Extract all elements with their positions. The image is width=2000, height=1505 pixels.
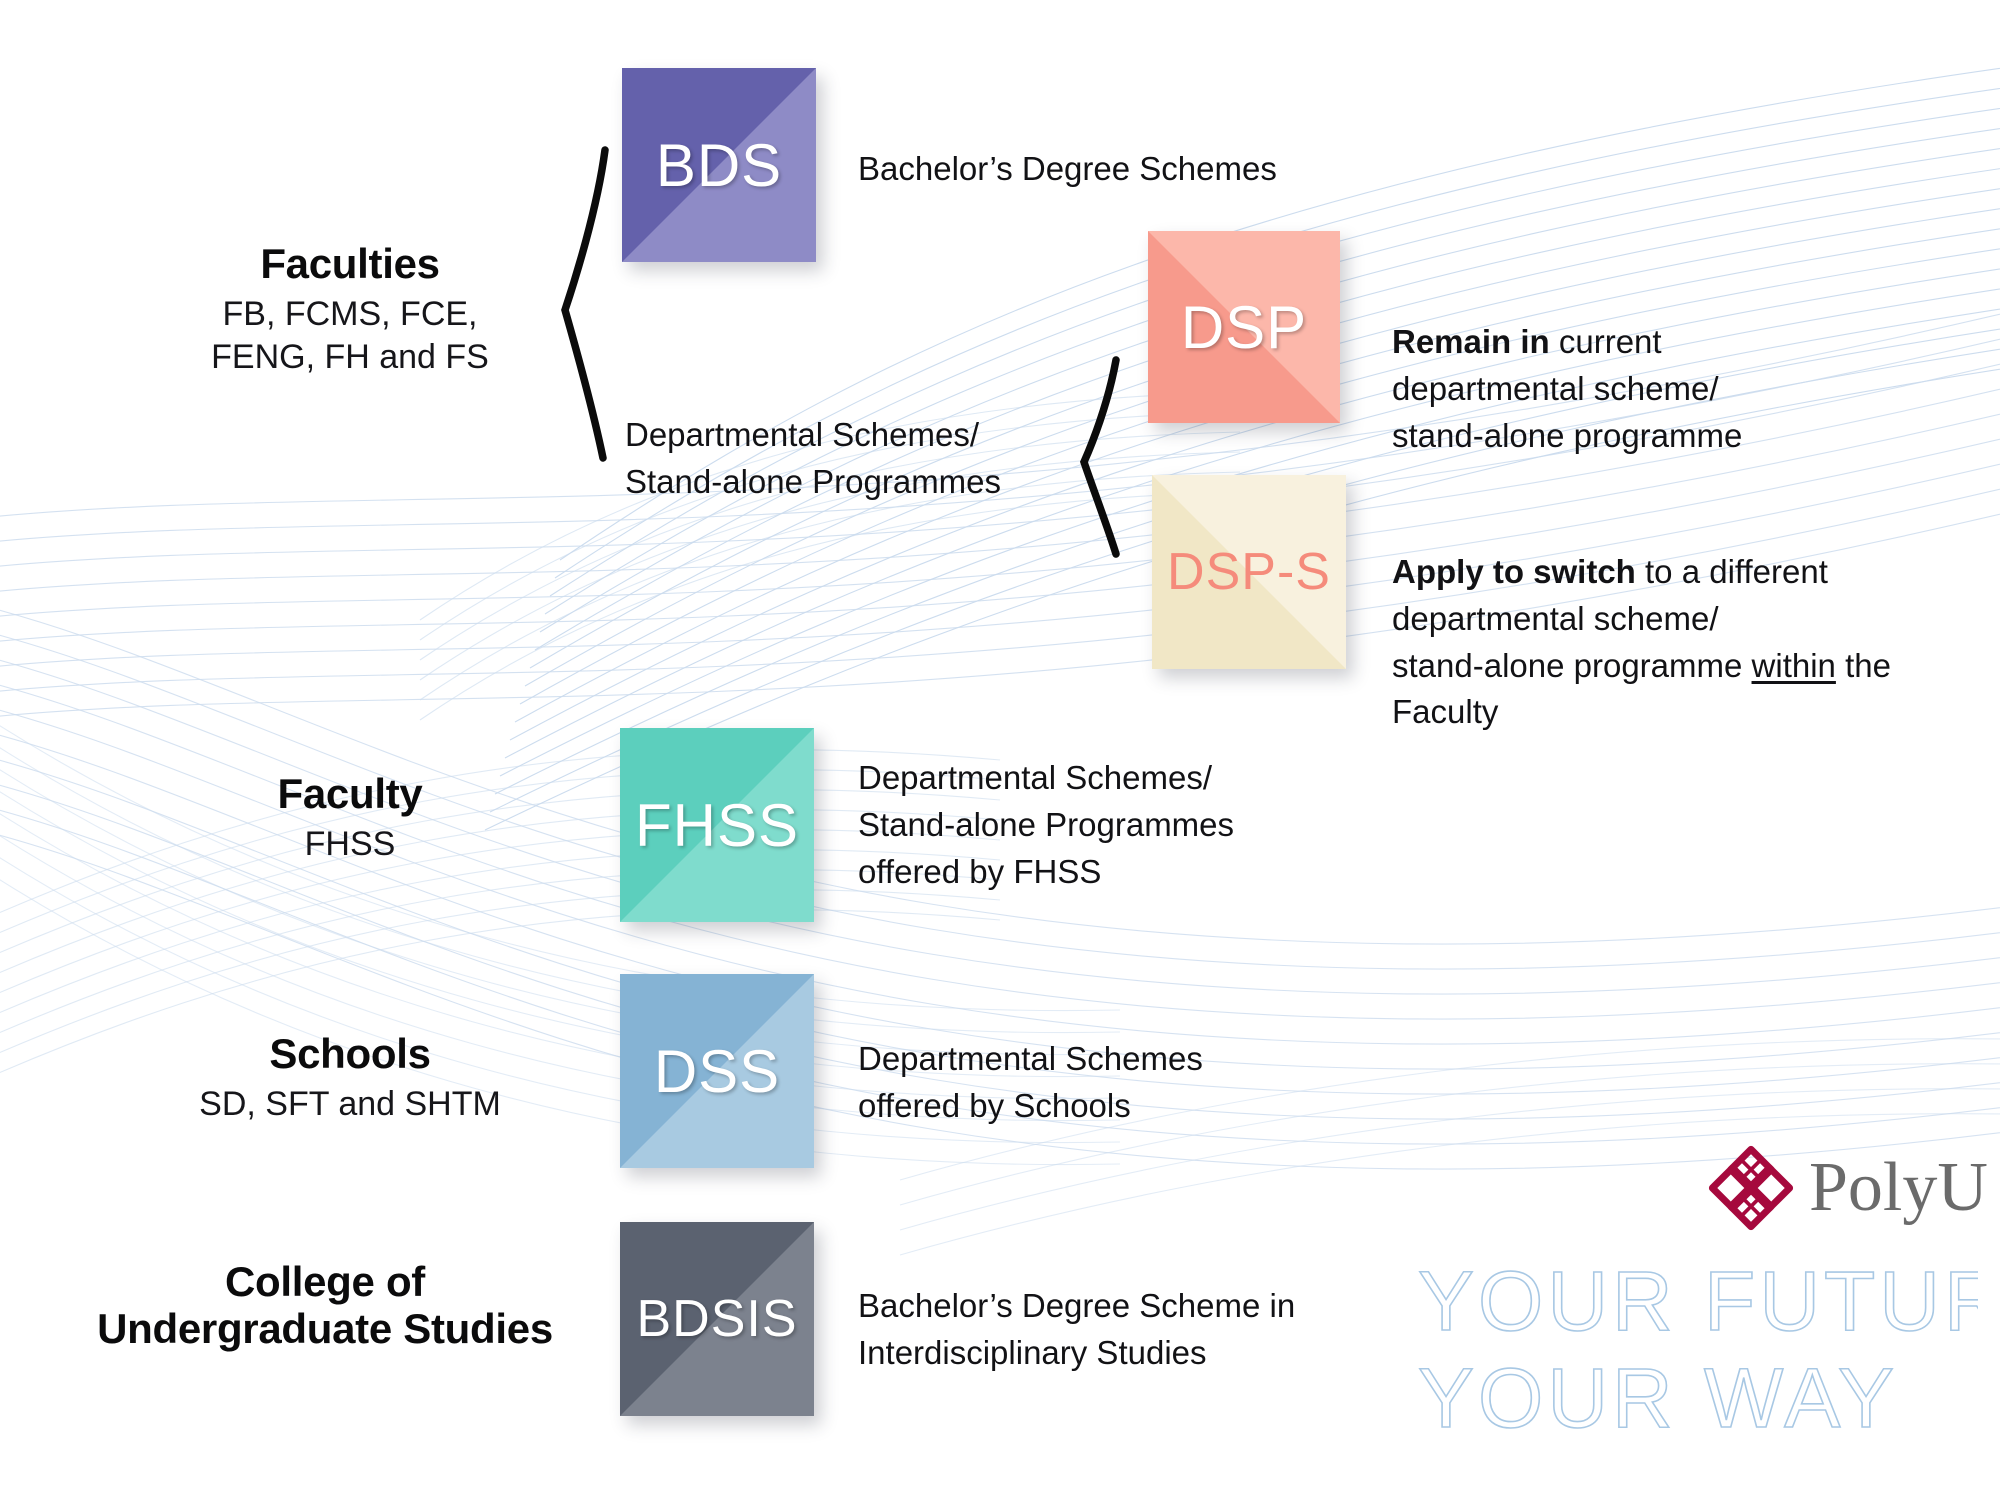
group-title-faculties: Faculties	[140, 240, 560, 287]
tile-bdsis-code: BDSIS	[636, 1289, 797, 1349]
tagline-line-2: YOUR WAY	[1418, 1351, 1898, 1445]
tile-dsp[interactable]: DSP	[1148, 231, 1340, 423]
description-dss: Departmental Schemesoffered by Schools	[858, 1036, 1378, 1130]
description-dsp-s-underlined: within	[1752, 647, 1836, 684]
tile-fhss-code: FHSS	[635, 791, 799, 860]
bracket-departmental	[1058, 352, 1148, 562]
description-dsp-lead: Remain in	[1392, 323, 1550, 360]
tagline-line-1: YOUR FUTURE	[1418, 1262, 1978, 1348]
tile-dsp-code: DSP	[1181, 293, 1307, 362]
group-label-faculties: Faculties FB, FCMS, FCE,FENG, FH and FS	[140, 240, 560, 378]
tile-dsp-s-code: DSP-S	[1167, 542, 1331, 602]
group-subtitle-faculties: FB, FCMS, FCE,FENG, FH and FS	[140, 293, 560, 378]
tile-dsp-s[interactable]: DSP-S	[1152, 475, 1346, 669]
tile-bds[interactable]: BDS	[622, 68, 816, 262]
group-label-schools: Schools SD, SFT and SHTM	[140, 1030, 560, 1126]
description-dsp-s: Apply to switch to a differentdepartment…	[1392, 502, 1932, 736]
tile-fhss[interactable]: FHSS	[620, 728, 814, 922]
description-departmental-bracket: Departmental Schemes/Stand-alone Program…	[625, 412, 1095, 506]
tile-bds-code: BDS	[656, 131, 782, 200]
infographic-canvas: Faculties FB, FCMS, FCE,FENG, FH and FS …	[0, 0, 2000, 1505]
group-label-faculty-fhss: Faculty FHSS	[140, 770, 560, 866]
group-title-schools: Schools	[140, 1030, 560, 1077]
tile-dss-code: DSS	[654, 1037, 780, 1106]
bracket-faculties	[535, 140, 635, 470]
polyu-knot-icon	[1705, 1142, 1797, 1234]
description-bdsis: Bachelor’s Degree Scheme inInterdiscipli…	[858, 1283, 1398, 1377]
group-title-faculty-fhss: Faculty	[140, 770, 560, 817]
group-subtitle-faculty-fhss: FHSS	[140, 823, 560, 866]
description-dsp: Remain in currentdepartmental scheme/sta…	[1392, 272, 1912, 459]
polyu-wordmark: PolyU	[1809, 1153, 1988, 1223]
polyu-logo: PolyU	[1705, 1142, 1988, 1234]
group-subtitle-schools: SD, SFT and SHTM	[140, 1083, 560, 1126]
description-bds: Bachelor’s Degree Schemes	[858, 146, 1378, 193]
tagline-your-future-your-way: YOUR FUTURE YOUR WAY	[1418, 1262, 1978, 1447]
tile-bdsis[interactable]: BDSIS	[620, 1222, 814, 1416]
description-fhss: Departmental Schemes/Stand-alone Program…	[858, 755, 1378, 896]
group-title-college: College ofUndergraduate Studies	[55, 1258, 595, 1352]
group-label-college: College ofUndergraduate Studies	[55, 1258, 595, 1352]
description-dsp-s-lead: Apply to switch	[1392, 553, 1636, 590]
tile-dss[interactable]: DSS	[620, 974, 814, 1168]
